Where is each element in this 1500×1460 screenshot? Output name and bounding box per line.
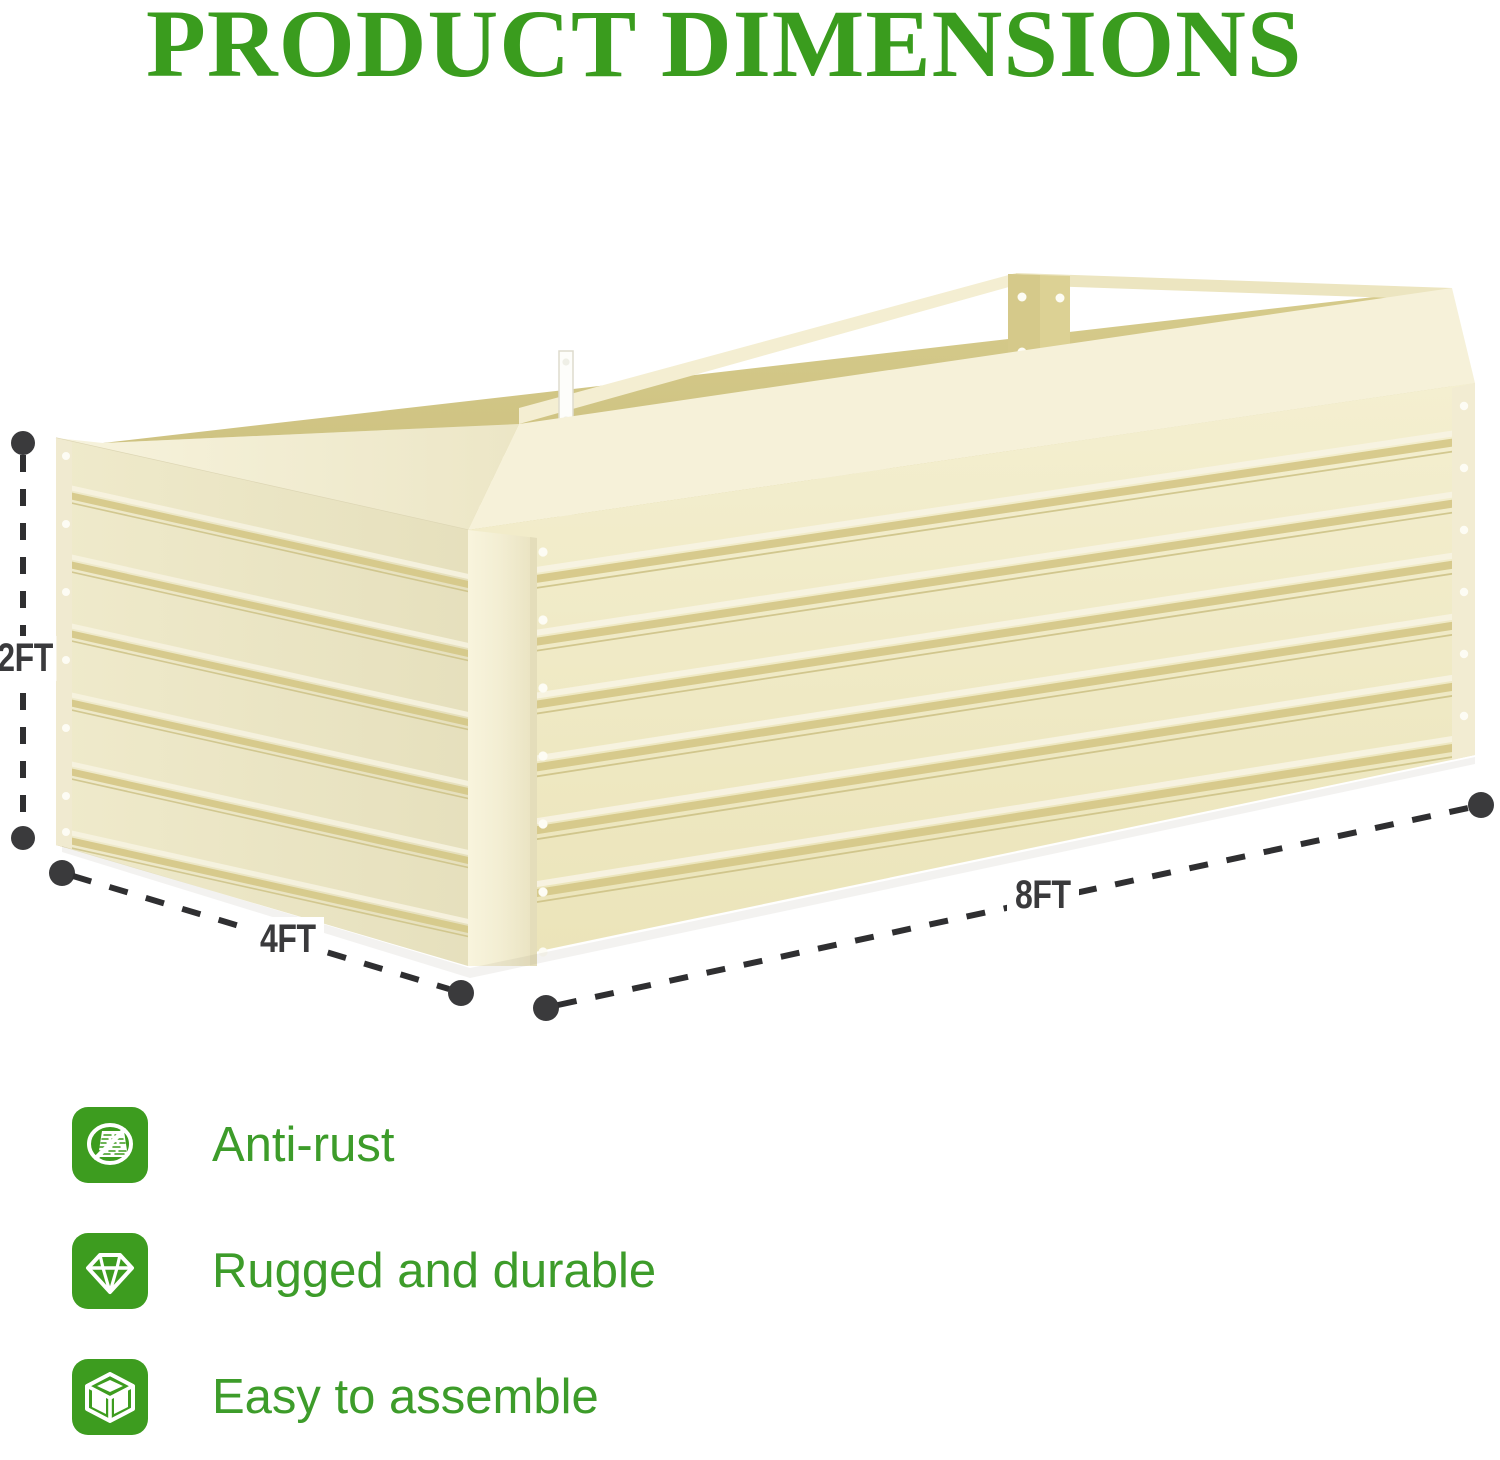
corner-post-front-left [468, 530, 548, 966]
feature-label-rugged-and-durable: Rugged and durable [212, 1247, 656, 1296]
diamond-icon [72, 1233, 148, 1309]
feature-label-anti-rust: Anti-rust [212, 1121, 394, 1170]
feature-list: Anti-rust Rugged and durable [72, 1082, 972, 1460]
no-rust-icon [72, 1107, 148, 1183]
feature-item-rugged-and-durable: Rugged and durable [72, 1208, 972, 1334]
feature-item-anti-rust: Anti-rust [72, 1082, 972, 1208]
product-illustration: 2FT 4FT 8FT [0, 0, 1500, 1060]
product-dimensions-infographic: PRODUCT DIMENSIONS [0, 0, 1500, 1431]
feature-item-easy-to-assemble: Easy to assemble [72, 1334, 972, 1460]
dimension-label-length: 8FT [1007, 873, 1079, 918]
dimension-label-width: 4FT [252, 917, 324, 962]
feature-label-easy-to-assemble: Easy to assemble [212, 1373, 599, 1422]
dimension-label-height: 2FT [0, 636, 56, 681]
cube-box-icon [72, 1359, 148, 1435]
raised-garden-bed-drawing [0, 0, 1500, 1060]
